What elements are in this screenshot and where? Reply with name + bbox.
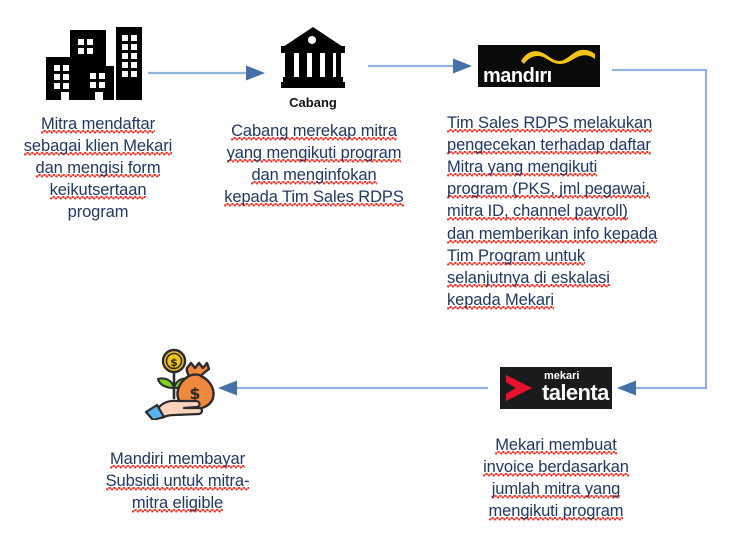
window [122,71,128,77]
window-grid [78,39,93,54]
door [95,92,103,100]
window [122,44,128,50]
text-line: Tim Sales RDPS melakukan [447,114,652,133]
window [54,74,60,80]
window [63,74,69,80]
window [131,53,137,59]
window [90,73,96,79]
svg-text:$: $ [170,356,178,369]
column-gap [333,53,336,77]
bank-medallion [308,36,316,44]
window [131,71,137,77]
window [54,65,60,71]
window [99,82,105,88]
column-gap [294,53,299,77]
text-line: dan memberikan info kepada [447,225,657,244]
building-block [46,57,84,100]
node-text-rdps: Tim Sales RDPS melakukan pengecekan terh… [447,112,697,311]
text-line: Mekari membuat [495,436,616,455]
mandiri-wave-icon [521,49,595,64]
text-line: selanjutnya di eskalasi [447,269,610,288]
text-line: Subsidi untuk mitra- [106,472,250,491]
text-line: Cabang merekap mitra [231,122,397,141]
window-grid [90,73,105,88]
window [78,39,84,45]
bank-columns [285,53,341,77]
window [78,48,84,54]
talenta-arrow-notch [504,381,516,395]
text-line: mitra ID, channel payroll) [447,202,628,221]
window [87,39,93,45]
diagram-canvas: Mitra mendaftar sebagai klien Mekari dan… [0,0,742,558]
mandiri-logo: mandırı [478,45,600,87]
text-line: program (PKS, jml pegawai, [447,180,650,199]
node-text-mekari: Mekari membuat invoice berdasarkan jumla… [452,434,660,522]
text-line: dan menginfokan [251,166,376,185]
cabang-caption: Cabang [253,95,373,110]
door [61,92,69,100]
text-line: mengikuti program [489,502,624,521]
mekari-talenta-logo: mekari talenta [500,367,612,409]
text-line: yang mengikuti program [227,144,402,163]
window [87,48,93,54]
window [99,73,105,79]
text-line: jumlah mitra yang [492,480,621,499]
text-line: Mitra mendaftar [41,115,155,134]
text-line: Tim Program untuk [447,247,585,266]
text-line: kepada Tim Sales RDPS [224,188,403,207]
bank-icon [281,27,345,89]
text-line: dan mengisi form [36,159,161,178]
node-text-subsidi: Mandiri membayar Subsidi untuk mitra- mi… [65,448,290,514]
bank-architrave [281,46,345,53]
mandiri-wordmark: mandırı [483,66,552,86]
window [90,82,96,88]
text-line: mitra eligible [132,494,223,513]
bank-base-lower [281,82,345,88]
text-line: keikutsertaan [50,181,147,200]
window [54,83,60,89]
window [131,35,137,41]
text-line: kepada Mekari [447,291,554,310]
text-line: program [68,203,129,221]
window [122,53,128,59]
node-text-cabang: Cabang merekap mitra yang mengikuti prog… [208,120,420,208]
column-gap [307,53,312,77]
money-hand-icon: $ $ [143,348,221,420]
text-line: invoice berdasarkan [483,458,629,477]
connector-mekari-to-subsidi [218,381,488,396]
window-grid [54,65,69,89]
window [122,62,128,68]
text-line: Mandiri membayar [110,450,245,469]
window [131,62,137,68]
building-block [84,66,114,100]
window [63,65,69,71]
column-gap [320,53,325,77]
text-line: Mitra yang mengikuti [447,158,597,177]
building-block [116,27,142,100]
window [122,35,128,41]
window-grid [122,35,137,77]
window [131,44,137,50]
connector-mitra-to-cabang [148,66,265,81]
text-line: pengecekan terhadap daftar [447,136,651,155]
window [63,83,69,89]
talenta-wordmark: talenta [542,382,609,404]
text-line: sebagai klien Mekari [24,137,172,156]
node-text-mitra: Mitra mendaftar sebagai klien Mekari dan… [8,113,188,224]
buildings-icon [46,22,142,100]
connector-cabang-to-rdps [368,59,472,74]
